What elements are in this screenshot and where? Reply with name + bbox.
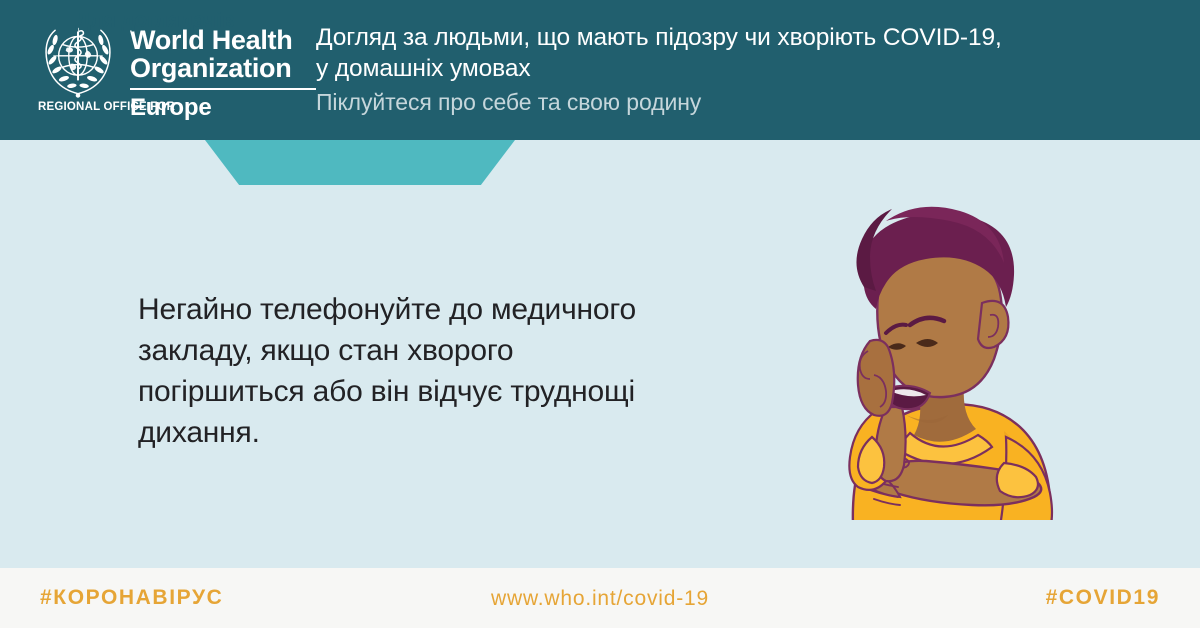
audience-ribbon (205, 140, 515, 185)
header-subtitle: Піклуйтеся про себе та свою родину (316, 87, 1176, 118)
footer-url[interactable]: www.who.int/covid-19 (0, 587, 1200, 611)
who-wordmark: World Health Organization (130, 26, 316, 82)
who-region-lockup: REGIONAL OFFICE FOR Europe (34, 94, 316, 120)
person-on-phone-illustration (760, 175, 1100, 520)
who-wordmark-line2: Organization (130, 54, 316, 82)
audience-ribbon-label: Для доглядачів (0, 9, 310, 33)
header-text-block: Догляд за людьми, що мають підозру чи хв… (316, 22, 1176, 118)
main-message: Негайно телефонуйте до медичного закладу… (138, 289, 658, 453)
header-title-line2: у домашніх умовах (316, 53, 1176, 84)
header-title-line1: Догляд за людьми, що мають підозру чи хв… (316, 22, 1176, 53)
who-region-name: Europe (130, 94, 211, 122)
footer-hashtag-right: #COVID19 (1046, 586, 1160, 610)
who-covid-infographic-poster: World Health Organization REGIONAL OFFIC… (0, 0, 1200, 628)
footer-bar: #КОРОНАВІРУС www.who.int/covid-19 #COVID… (0, 568, 1200, 628)
who-logo-divider (130, 88, 316, 90)
illustration-figure (849, 207, 1052, 520)
